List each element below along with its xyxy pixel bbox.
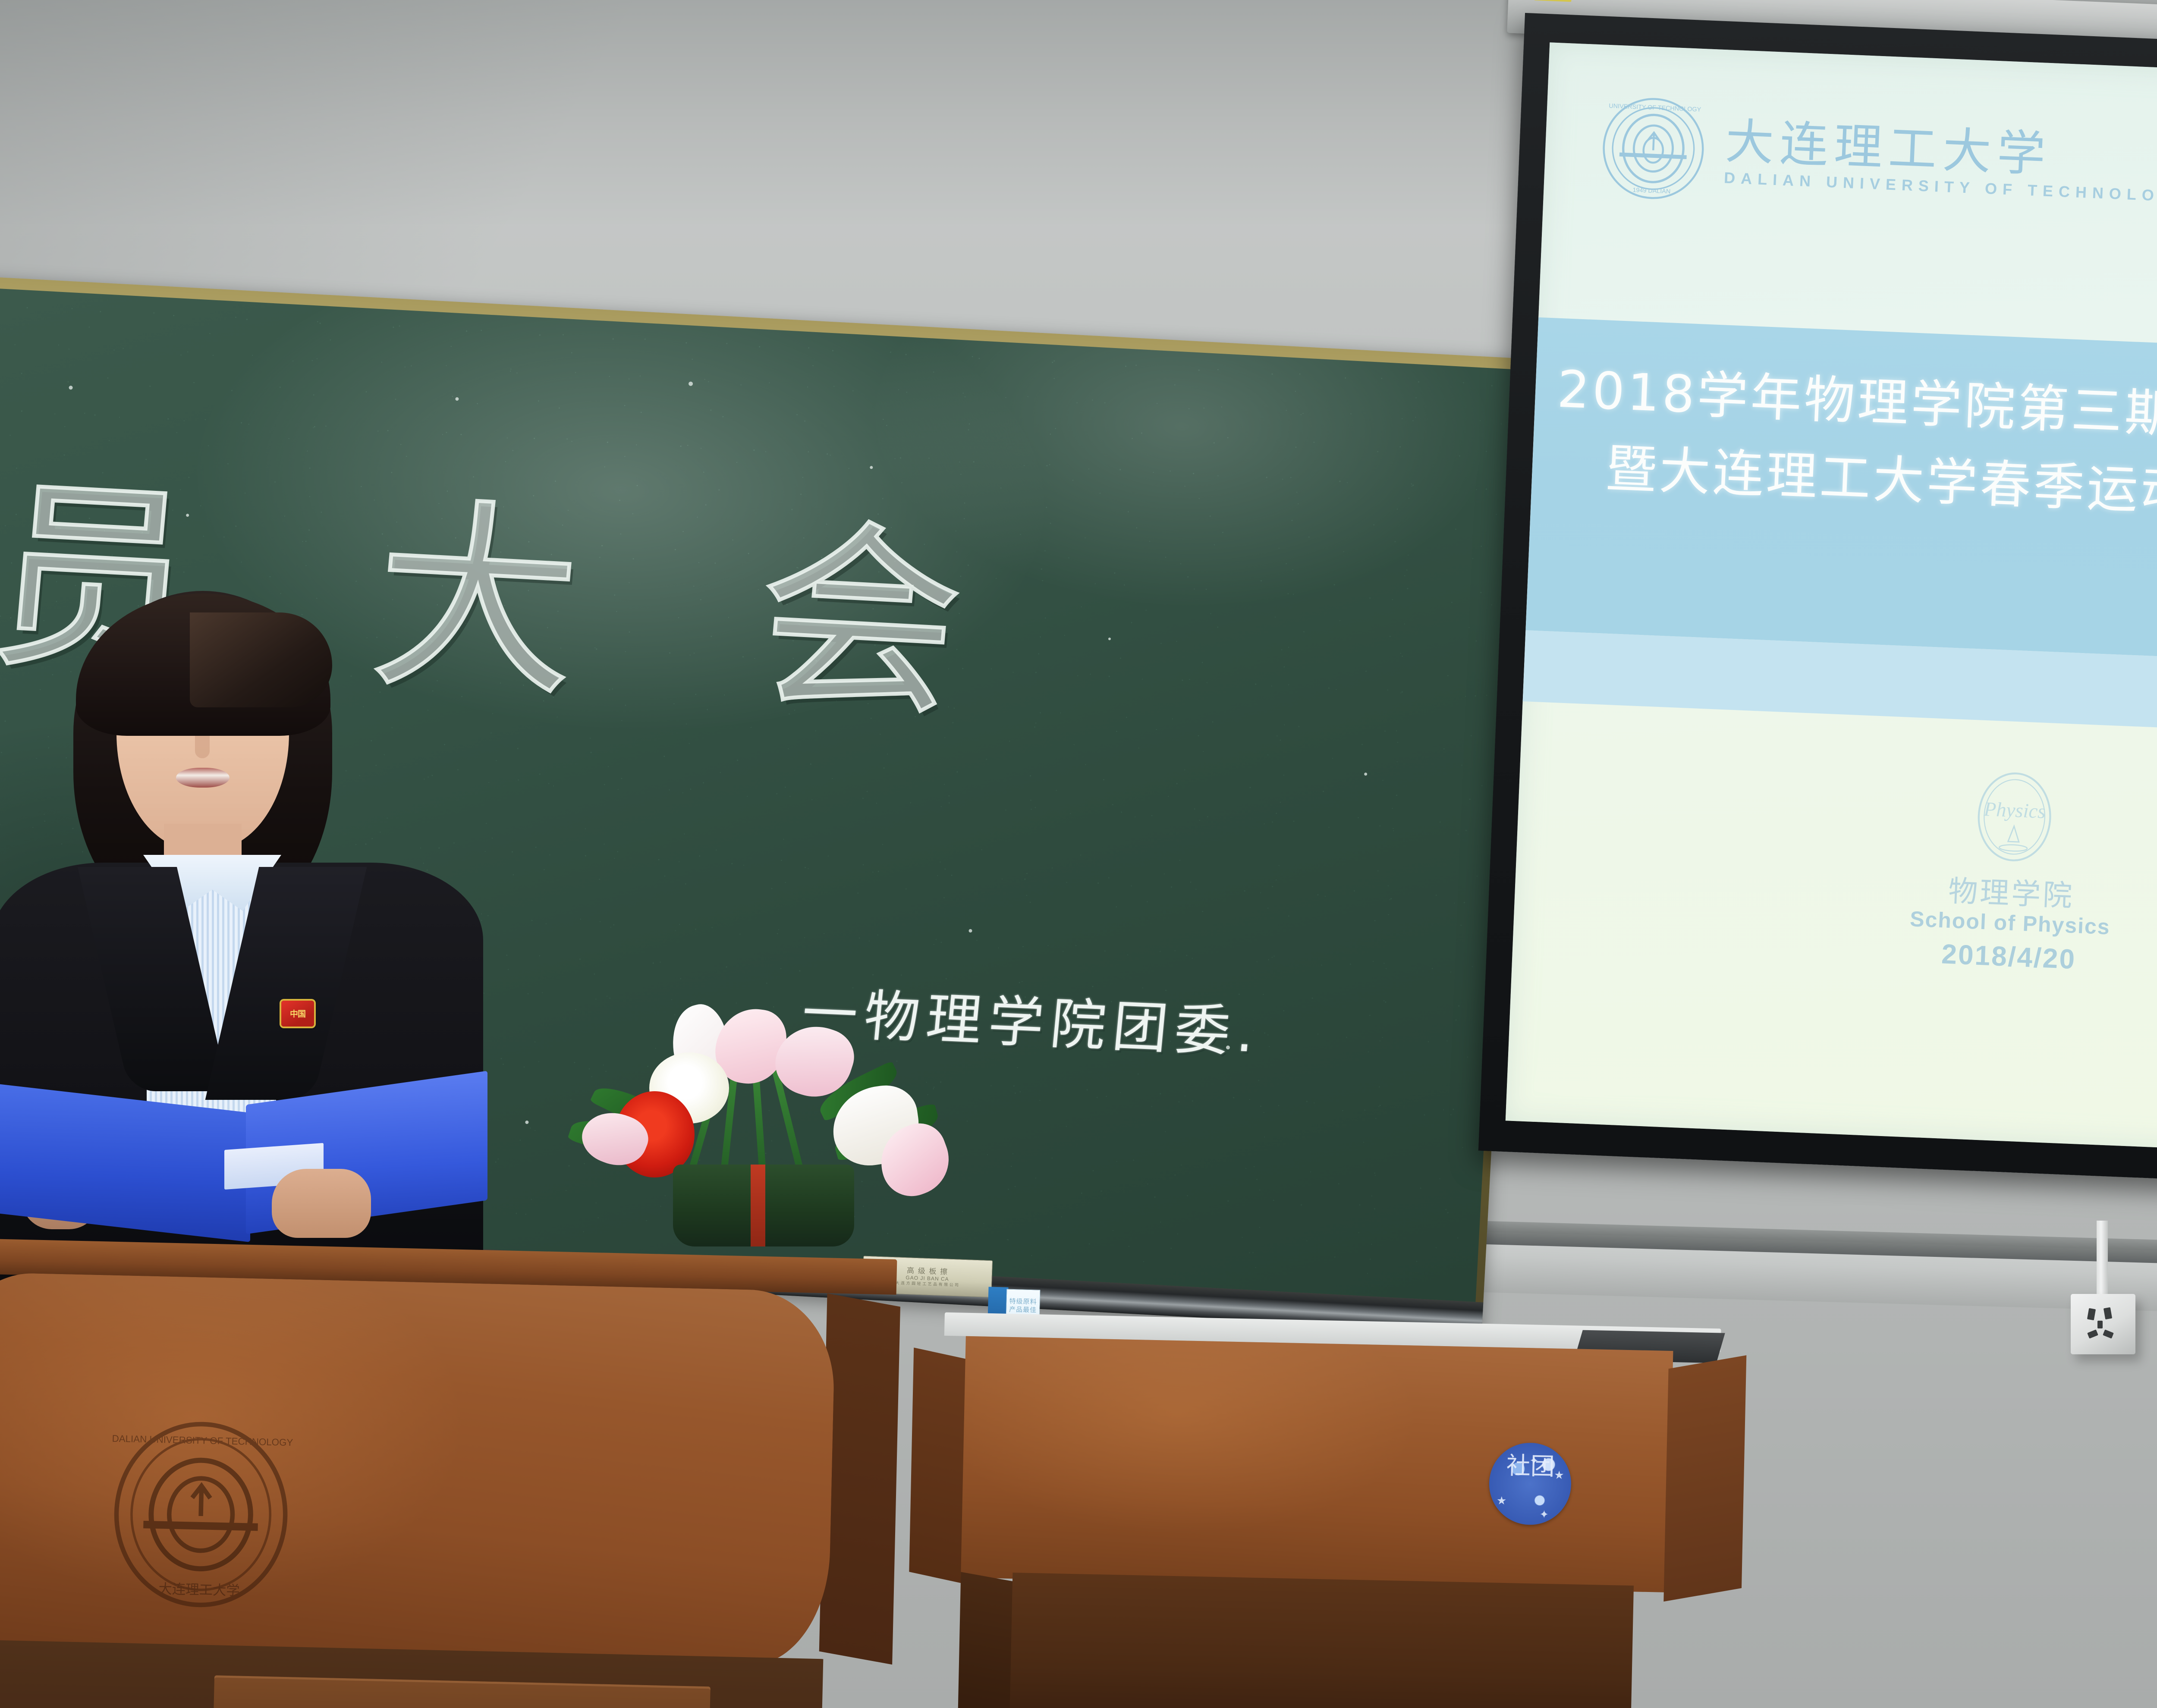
dut-name-block: 大连理工大学 DALIAN UNIVERSITY OF TECHNOLOGY bbox=[1724, 117, 2157, 204]
lectern-secondary-stem bbox=[1009, 1573, 1634, 1708]
speaker: 中国 bbox=[0, 565, 518, 1298]
vase-ribbon bbox=[751, 1165, 765, 1246]
projected-slide: UNIVERSITY OF TECHNOLOGY 1949 DALIAN 大连理… bbox=[1506, 42, 2157, 1161]
svg-text:UNIVERSITY OF TECHNOLOGY: UNIVERSITY OF TECHNOLOGY bbox=[1609, 102, 1701, 113]
badge-text: 中国 bbox=[281, 1008, 314, 1019]
lectern-primary: DALIAN UNIVERSITY OF TECHNOLOGY 大连理工大学 bbox=[0, 1238, 897, 1708]
folder-left-panel bbox=[0, 1078, 250, 1242]
mouth bbox=[176, 768, 230, 788]
lectern-primary-front: DALIAN UNIVERSITY OF TECHNOLOGY 大连理工大学 bbox=[0, 1272, 836, 1667]
school-name-cn: 物理学院 bbox=[1948, 876, 2075, 912]
projection-screen-unit: UNIVERSITY OF TECHNOLOGY 1949 DALIAN 大连理… bbox=[1477, 0, 2157, 1228]
blue-round-sticker-icon: 社团 ★ ★ ✦ ✦ bbox=[1488, 1442, 1572, 1526]
flower-vase bbox=[673, 1165, 854, 1246]
flower-arrangement bbox=[531, 988, 997, 1255]
power-outlet-icon bbox=[2071, 1294, 2135, 1354]
blue-folder bbox=[0, 1096, 483, 1238]
nose bbox=[195, 733, 210, 758]
slide-brand-header: UNIVERSITY OF TECHNOLOGY 1949 DALIAN 大连理… bbox=[1598, 93, 2157, 223]
screen-border: UNIVERSITY OF TECHNOLOGY 1949 DALIAN 大连理… bbox=[1478, 13, 2157, 1193]
dut-seal-icon: DALIAN UNIVERSITY OF TECHNOLOGY 大连理工大学 bbox=[108, 1418, 294, 1611]
svg-text:Physics: Physics bbox=[1983, 798, 2046, 823]
lectern-secondary-side-right bbox=[1663, 1355, 1746, 1601]
youth-league-badge-icon: 中国 bbox=[281, 1001, 314, 1027]
hair-sweep bbox=[190, 612, 332, 707]
school-name-en: School of Physics bbox=[1909, 907, 2110, 939]
housing-warning-sticker bbox=[1534, 0, 1572, 2]
dut-seal-icon: UNIVERSITY OF TECHNOLOGY 1949 DALIAN bbox=[1598, 93, 1708, 204]
svg-text:1949 DALIAN: 1949 DALIAN bbox=[1632, 187, 1670, 195]
hand-right bbox=[272, 1169, 371, 1238]
svg-text:大连理工大学: 大连理工大学 bbox=[158, 1581, 240, 1598]
classroom-scene: 员 大 会 一物理学院团委. 高 级 板 擦 GAO JI BAN CA 大 连… bbox=[0, 0, 2157, 1708]
slide-date: 2018/4/20 bbox=[1941, 939, 2076, 974]
lectern-secondary: 社团 ★ ★ ✦ ✦ bbox=[880, 1311, 1786, 1708]
school-of-physics-seal-icon: Physics bbox=[1974, 767, 2055, 866]
plate-line-3: 大 连 方 圆 轻 工 艺 品 有 限 公 司 bbox=[895, 1281, 959, 1287]
slide-footer-block: Physics 物理学院 School of Physics 2018/4/20 bbox=[1512, 749, 2157, 992]
electrical-conduit bbox=[2097, 1221, 2108, 1303]
svg-text:DALIAN UNIVERSITY OF TECHNOLOG: DALIAN UNIVERSITY OF TECHNOLOGY bbox=[112, 1433, 293, 1448]
lectern-secondary-front: 社团 ★ ★ ✦ ✦ bbox=[961, 1336, 1673, 1592]
